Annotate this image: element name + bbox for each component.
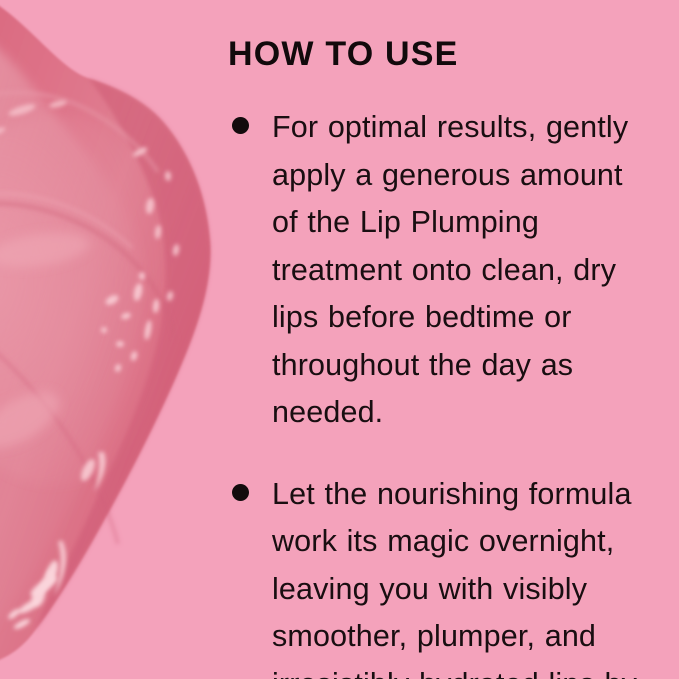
bullet-dot-icon — [232, 484, 249, 501]
list-item: For optimal results, gently apply a gene… — [228, 104, 658, 437]
product-instruction-card: HOW TO USE For optimal results, gently a… — [0, 0, 679, 679]
instruction-step-text: Let the nourishing formula work its magi… — [272, 471, 658, 679]
bullet-dot-icon — [232, 117, 249, 134]
page-title: HOW TO USE — [228, 34, 658, 74]
list-item: Let the nourishing formula work its magi… — [228, 471, 658, 679]
instruction-step-text: For optimal results, gently apply a gene… — [272, 104, 658, 437]
instruction-content: HOW TO USE For optimal results, gently a… — [228, 34, 658, 679]
